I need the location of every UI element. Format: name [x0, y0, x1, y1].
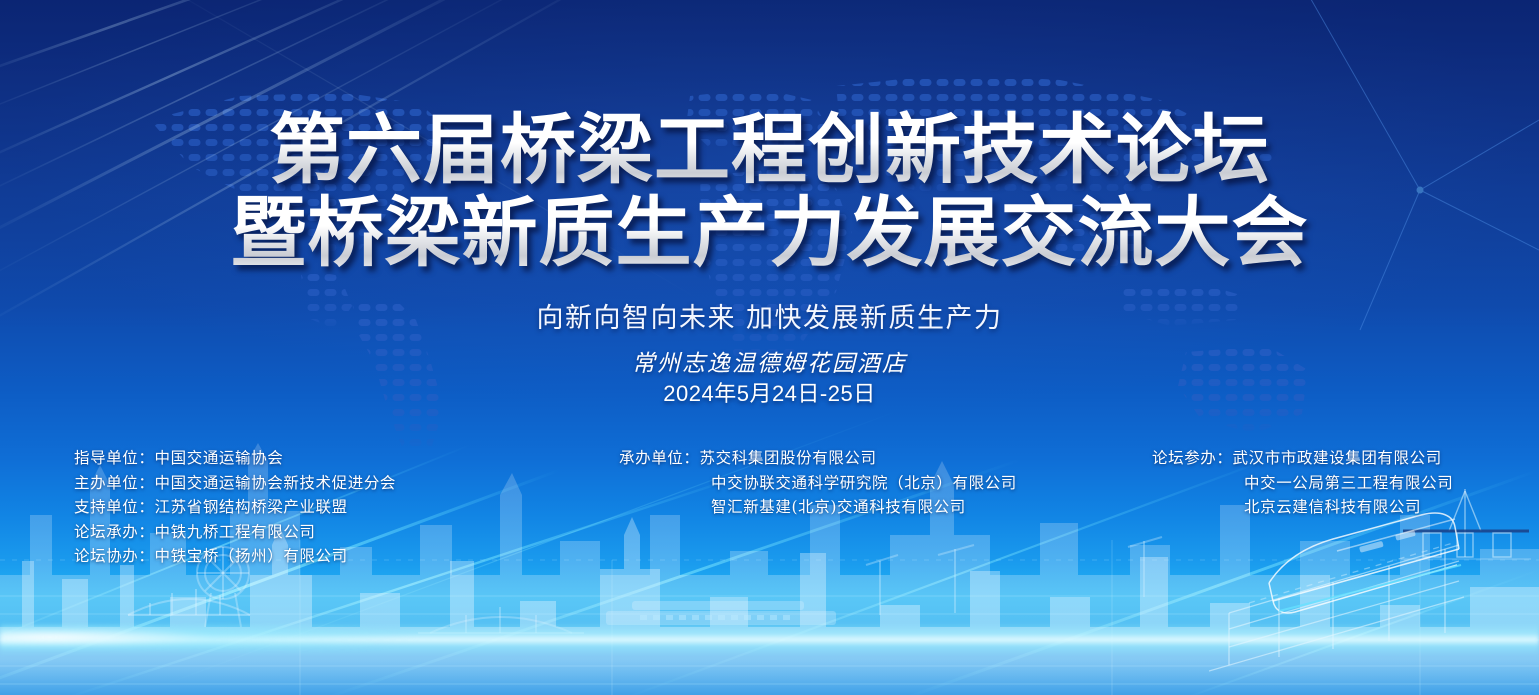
credit-row: 支持单位：江苏省钢结构桥梁产业联盟	[74, 495, 396, 520]
credit-row: 论坛协办：中铁宝桥（扬州）有限公司	[74, 544, 396, 569]
credit-label: 指导单位：	[74, 446, 155, 471]
credit-row: 智汇新基建(北京)交通科技有限公司	[619, 495, 1017, 520]
credits-right-column: 论坛参办：武汉市市政建设集团有限公司 中交一公局第三工程有限公司 北京云建信科技…	[1152, 446, 1453, 520]
credits-left-column: 指导单位：中国交通运输协会 主办单位：中国交通运输协会新技术促进分会 支持单位：…	[74, 446, 396, 569]
credit-label: 支持单位：	[74, 495, 155, 520]
credit-row: 北京云建信科技有限公司	[1152, 495, 1453, 520]
credit-value: 江苏省钢结构桥梁产业联盟	[155, 498, 348, 516]
credit-row: 中交一公局第三工程有限公司	[1152, 471, 1453, 496]
credit-value: 中国交通运输协会	[155, 449, 284, 467]
credit-value: 武汉市市政建设集团有限公司	[1233, 449, 1442, 467]
date-text: 2024年5月24日-25日	[0, 380, 1539, 408]
credit-label: 主办单位：	[74, 471, 155, 496]
credit-row: 论坛参办：武汉市市政建设集团有限公司	[1152, 446, 1453, 471]
subtitle: 向新向智向未来 加快发展新质生产力	[0, 296, 1539, 335]
credit-value: 中国交通运输协会新技术促进分会	[155, 474, 397, 492]
credit-row: 指导单位：中国交通运输协会	[74, 446, 396, 471]
credit-value: 北京云建信科技有限公司	[1244, 498, 1421, 516]
credit-label: 论坛承办：	[74, 520, 155, 545]
credit-label: 承办单位：	[619, 446, 700, 471]
venue-text: 常州志逸温德姆花园酒店	[0, 350, 1539, 378]
venue-and-date-block: 常州志逸温德姆花园酒店 2024年5月24日-25日	[0, 350, 1539, 408]
horizon-glow-hotspot	[0, 626, 620, 648]
credit-row: 论坛承办：中铁九桥工程有限公司	[74, 520, 396, 545]
credit-value: 中交一公局第三工程有限公司	[1244, 474, 1453, 492]
credit-label: 论坛协办：	[74, 544, 155, 569]
credit-value: 苏交科集团股份有限公司	[700, 449, 877, 467]
credit-value: 智汇新基建(北京)交通科技有限公司	[711, 498, 966, 516]
credit-value: 中铁宝桥（扬州）有限公司	[155, 547, 348, 565]
credit-row: 中交协联交通科学研究院（北京）有限公司	[619, 471, 1017, 496]
credits-middle-column: 承办单位：苏交科集团股份有限公司 中交协联交通科学研究院（北京）有限公司 智汇新…	[619, 446, 1017, 520]
credit-value: 中铁九桥工程有限公司	[155, 523, 316, 541]
credit-row: 承办单位：苏交科集团股份有限公司	[619, 446, 1017, 471]
conference-banner: 第六届桥梁工程创新技术论坛 暨桥梁新质生产力发展交流大会 向新向智向未来 加快发…	[0, 0, 1539, 695]
credit-value: 中交协联交通科学研究院（北京）有限公司	[711, 474, 1017, 492]
credit-row: 主办单位：中国交通运输协会新技术促进分会	[74, 471, 396, 496]
credit-label: 论坛参办：	[1152, 446, 1233, 471]
